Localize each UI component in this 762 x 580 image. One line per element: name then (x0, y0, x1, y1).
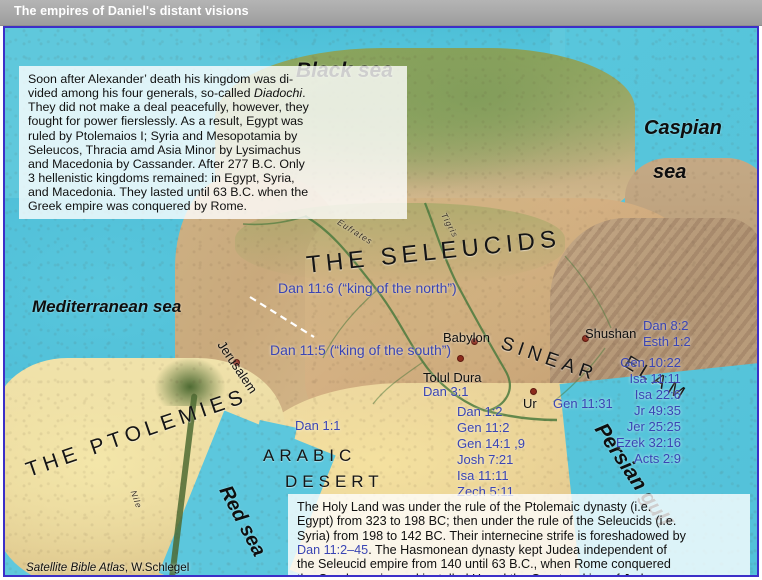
river-label-tigris: Tigris (439, 211, 460, 239)
ref-elam-4[interactable]: Jer 25:25 (627, 419, 681, 434)
ref-elam-1[interactable]: Isa 11:11 (629, 371, 681, 386)
annotation-king-of-the-south[interactable]: Dan 11:5 (“king of the south”) (270, 342, 451, 358)
holyland-line-3: Syria) from 198 to 142 BC. Their interne… (297, 529, 742, 543)
ref-elam-3[interactable]: Jr 49:35 (634, 403, 681, 418)
diadochi-italic-diadochi: Diadochi (254, 86, 302, 100)
region-label-desert: DESERT (285, 472, 384, 492)
screenshot-root: The empires of Daniel's distant visions (0, 0, 762, 580)
diadochi-line-2b: . (302, 86, 305, 100)
city-label-shushan: Shushan (585, 326, 636, 341)
river-label-euphrates: Eufrates (336, 217, 375, 246)
city-dot-babylon-area (457, 355, 464, 362)
diadochi-line-8: 3 hellenistic kingdoms remained: in Egyp… (28, 171, 399, 185)
window-title-bar: The empires of Daniel's distant visions (0, 0, 762, 26)
holyland-line-1: The Holy Land was under the rule of the … (297, 500, 742, 514)
diadochi-line-6: Seleucos, Thracia amd Asia Minor by Lysi… (28, 143, 399, 157)
iranian-plateau-landmass (625, 158, 757, 288)
credit-source-line: Satellite Bible Atlas, W.Schlegel (26, 561, 224, 574)
region-label-the-ptolemies: THE PTOLEMIES (23, 384, 251, 482)
ref-center-2[interactable]: Gen 14:1 ,9 (457, 436, 525, 451)
diadochi-line-4: fought for power fierslessly. As a resul… (28, 114, 399, 128)
region-label-arabic: ARABIC (263, 446, 356, 466)
diadochi-line-5: ruled by Ptolemaios I; Syria and Mesopot… (28, 129, 399, 143)
mediterranean-sea-label: Mediterranean sea (32, 297, 181, 317)
ptolemaic-seleucid-boundary-line (248, 295, 318, 339)
city-label-ur: Ur (523, 396, 537, 411)
ref-center-3[interactable]: Josh 7:21 (457, 452, 513, 467)
ref-elam-2[interactable]: Isa 22:6 (635, 387, 681, 402)
map-credit: Satellite Bible Atlas, W.Schlegel Used b… (17, 555, 232, 575)
city-dot-ur (530, 388, 537, 395)
ref-tolul-dura[interactable]: Dan 3:1 (423, 384, 469, 399)
credit-source-author: , W.Schlegel (125, 561, 189, 574)
diadochi-line-10: Greek empire was conquered by Rome. (28, 199, 399, 213)
ref-shushan-0[interactable]: Dan 8:2 (643, 318, 689, 333)
ref-jerusalem-dan-1-1[interactable]: Dan 1:1 (295, 418, 341, 433)
satellite-map-image[interactable]: Black sea Caspian sea Mediterranean sea … (5, 28, 757, 575)
ref-elam-0[interactable]: Gen 10:22 (620, 355, 681, 370)
region-label-the-seleucids: THE SELEUCIDS (305, 225, 562, 280)
info-box-diadochi: Soon after Alexander’ death his kingdom … (19, 66, 407, 219)
caspian-sea-label-line2: sea (653, 161, 686, 184)
credit-permission: Used by permission. (26, 574, 224, 575)
annotation-king-of-the-north[interactable]: Dan 11:6 (“king of the north”) (278, 280, 457, 296)
red-sea-label: Red sea (214, 482, 270, 561)
window-title: The empires of Daniel's distant visions (14, 4, 249, 18)
ref-shushan-1[interactable]: Esth 1:2 (643, 334, 691, 349)
ref-center-0[interactable]: Dan 1:2 (457, 404, 503, 419)
ref-center-1[interactable]: Gen 11:2 (457, 420, 510, 435)
diadochi-line-1: Soon after Alexander’ death his kingdom … (28, 72, 399, 86)
holyland-line-6: the Greek empire and installed Herod the… (297, 572, 742, 575)
diadochi-line-7: and Macedonia by Cassander. After 277 B.… (28, 157, 399, 171)
caspian-sea-label-line1: Caspian (644, 117, 722, 140)
holyland-line-2: Egypt) from 323 to 198 BC; then under th… (297, 514, 742, 528)
holyland-line-4-rest: . The Hasmonean dynasty kept Judea indep… (368, 543, 667, 557)
ref-elam-6[interactable]: Acts 2:9 (634, 451, 681, 466)
diadochi-line-3: They did not make a deal peacefully, how… (28, 100, 399, 114)
ref-elam-5[interactable]: Ezek 32:16 (616, 435, 681, 450)
holyland-line-4: Dan 11:2–45. The Hasmonean dynasty kept … (297, 543, 742, 557)
diadochi-line-2: vided among his four generals, so-called… (28, 86, 399, 100)
river-label-nile: Nile (129, 489, 145, 510)
credit-source-title: Satellite Bible Atlas (26, 561, 125, 574)
diadochi-line-2a: vided among his four generals, so-called (28, 86, 254, 100)
ref-ur[interactable]: Gen 11:31 (553, 396, 613, 411)
diadochi-line-9: and Macedonia. They lasted until 63 B.C.… (28, 185, 399, 199)
city-label-tolul-dura: Tolul Dura (423, 370, 482, 385)
holyland-line-5: the Seleucid empire from 140 until 63 B.… (297, 557, 742, 571)
ref-dan-11-2-45[interactable]: Dan 11:2–45 (297, 543, 368, 557)
info-box-holy-land: The Holy Land was under the rule of the … (288, 494, 750, 575)
ref-center-4[interactable]: Isa 11:11 (457, 468, 509, 483)
map-frame: Black sea Caspian sea Mediterranean sea … (3, 26, 759, 577)
